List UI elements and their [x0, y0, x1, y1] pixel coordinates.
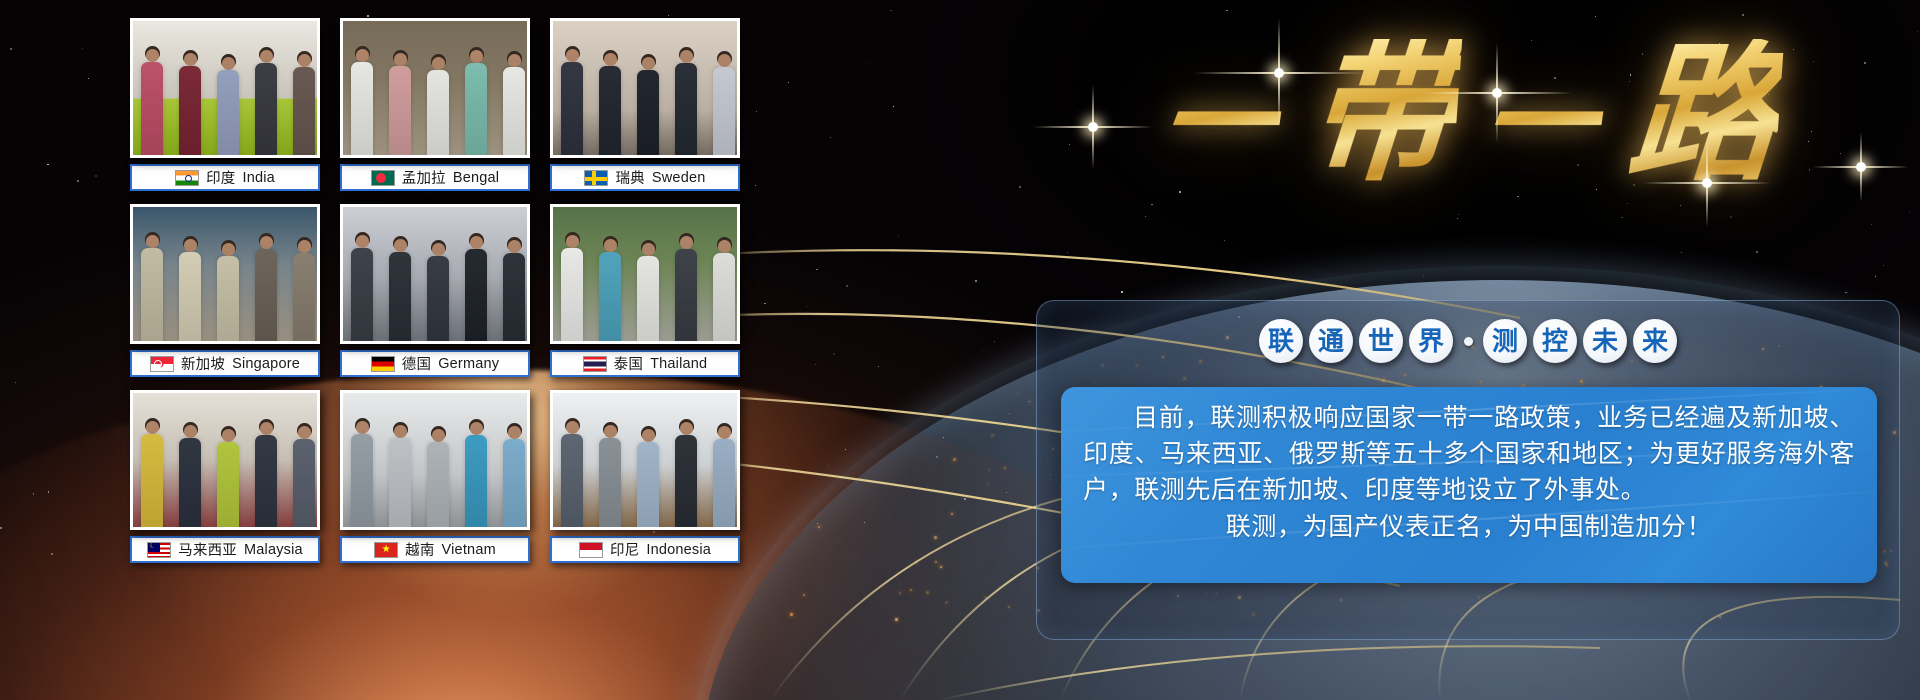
- group-photo-thailand: [550, 204, 740, 344]
- bangladesh-flag-icon: [371, 170, 395, 186]
- photo-card-vietnam[interactable]: 越南Vietnam: [340, 390, 530, 570]
- partner-photo-grid: 印度India孟加拉Bengal瑞典Sweden新加坡Singapore德国Ge…: [130, 18, 770, 584]
- caption-label-en: Bengal: [453, 170, 499, 186]
- photo-caption: 德国Germany: [340, 350, 530, 377]
- photo-caption: 瑞典Sweden: [550, 164, 740, 191]
- slogan-char-9: 来: [1633, 319, 1677, 363]
- photo-card-india[interactable]: 印度India: [130, 18, 320, 198]
- photo-card-singapore[interactable]: 新加坡Singapore: [130, 204, 320, 384]
- caption-label: 马来西亚: [178, 539, 237, 560]
- sparkle-flare-5: [1860, 166, 1861, 167]
- caption-label: 越南: [405, 539, 434, 560]
- caption-label-en: Sweden: [652, 170, 706, 186]
- germany-flag-icon: [371, 356, 395, 372]
- slogan-char-4: 界: [1409, 319, 1453, 363]
- description-paragraph-1: 目前，联测积极响应国家一带一路政策，业务已经遍及新加坡、印度、马来西亚、俄罗斯等…: [1083, 400, 1855, 508]
- description-card: 目前，联测积极响应国家一带一路政策，业务已经遍及新加坡、印度、马来西亚、俄罗斯等…: [1061, 387, 1877, 583]
- photo-caption: 越南Vietnam: [340, 536, 530, 563]
- group-photo-germany: [340, 204, 530, 344]
- caption-label-en: Indonesia: [646, 542, 711, 558]
- caption-label: 孟加拉: [402, 167, 446, 188]
- caption-label-en: Singapore: [232, 356, 300, 372]
- sparkle-flare-2: [1092, 126, 1093, 127]
- photo-card-sweden[interactable]: 瑞典Sweden: [550, 18, 740, 198]
- photo-caption: 泰国Thailand: [550, 350, 740, 377]
- slogan-char-2: 通: [1309, 319, 1353, 363]
- singapore-flag-icon: [150, 356, 174, 372]
- calligraphy-char-2: 带: [1302, 39, 1463, 189]
- belt-and-road-banner: 印度India孟加拉Bengal瑞典Sweden新加坡Singapore德国Ge…: [0, 0, 1920, 700]
- group-photo-india: [130, 18, 320, 158]
- slogan-char-8: 未: [1583, 319, 1627, 363]
- caption-label: 瑞典: [615, 167, 644, 188]
- group-photo-vietnam: [340, 390, 530, 530]
- caption-label: 泰国: [614, 353, 643, 374]
- calligraphy-char-1: 一: [1151, 64, 1288, 184]
- slogan-char-6: 测: [1483, 319, 1527, 363]
- photo-caption: 新加坡Singapore: [130, 350, 320, 377]
- calligraphy-char-3: 一: [1473, 64, 1610, 184]
- calligraphy-char-4: 路: [1624, 39, 1785, 189]
- slogan-char-7: 控: [1533, 319, 1577, 363]
- photo-caption: 印尼Indonesia: [550, 536, 740, 563]
- photo-caption: 孟加拉Bengal: [340, 164, 530, 191]
- caption-label-en: India: [242, 170, 274, 186]
- photo-card-indonesia[interactable]: 印尼Indonesia: [550, 390, 740, 570]
- caption-label-en: Vietnam: [442, 542, 496, 558]
- caption-label-en: Malaysia: [244, 542, 303, 558]
- group-photo-indonesia: [550, 390, 740, 530]
- description-paragraph-2: 联测，为国产仪表正名，为中国制造加分！: [1083, 509, 1855, 545]
- caption-label: 印尼: [610, 539, 639, 560]
- slogan-separator-dot: [1459, 332, 1477, 350]
- slogan-row: 联通世界测控未来: [1037, 319, 1899, 363]
- sweden-flag-icon: [584, 170, 608, 186]
- caption-label: 新加坡: [181, 353, 225, 374]
- info-panel: 联通世界测控未来 目前，联测积极响应国家一带一路政策，业务已经遍及新加坡、印度、…: [1036, 300, 1900, 640]
- caption-label-en: Germany: [438, 356, 499, 372]
- photo-card-thailand[interactable]: 泰国Thailand: [550, 204, 740, 384]
- group-photo-malaysia: [130, 390, 320, 530]
- caption-label: 印度: [206, 167, 235, 188]
- photo-card-bengal[interactable]: 孟加拉Bengal: [340, 18, 530, 198]
- indonesia-flag-icon: [579, 542, 603, 558]
- vietnam-flag-icon: [374, 542, 398, 558]
- photo-card-malaysia[interactable]: 马来西亚Malaysia: [130, 390, 320, 570]
- photo-caption: 马来西亚Malaysia: [130, 536, 320, 563]
- slogan-char-3: 世: [1359, 319, 1403, 363]
- caption-label-en: Thailand: [650, 356, 707, 372]
- malaysia-flag-icon: [147, 542, 171, 558]
- slogan-char-1: 联: [1259, 319, 1303, 363]
- thailand-flag-icon: [583, 356, 607, 372]
- photo-card-germany[interactable]: 德国Germany: [340, 204, 530, 384]
- photo-caption: 印度India: [130, 164, 320, 191]
- caption-label: 德国: [402, 353, 431, 374]
- calligraphy-title: 一带一路: [1030, 14, 1910, 214]
- group-photo-singapore: [130, 204, 320, 344]
- india-flag-icon: [175, 170, 199, 186]
- group-photo-bengal: [340, 18, 530, 158]
- group-photo-sweden: [550, 18, 740, 158]
